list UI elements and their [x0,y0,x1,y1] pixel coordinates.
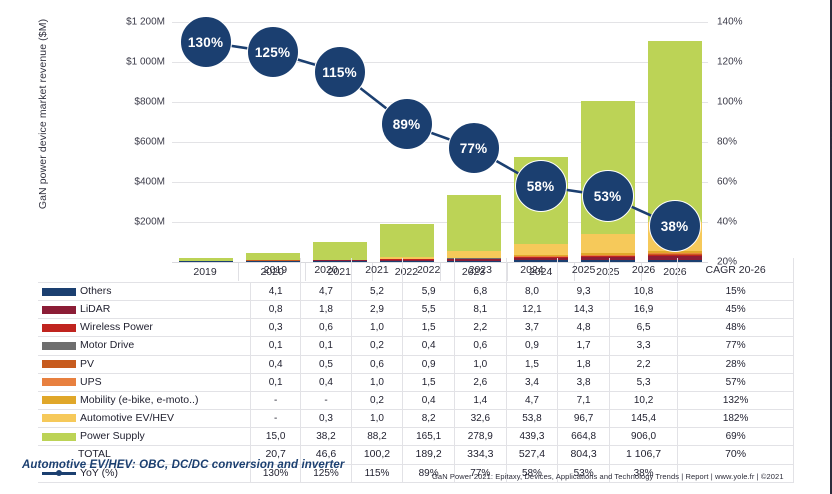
bar-segment [648,222,702,251]
table-cell: 0,8 [251,301,301,319]
bar-slot [306,22,373,262]
legend-swatch-icon [42,306,76,314]
table-cell: 1,8 [301,301,351,319]
stacked-bar[interactable] [648,41,702,262]
bar-slot [641,22,708,262]
data-table-container: 20192020202120222023202420252026CAGR 20-… [38,258,794,483]
table-cell: 0,1 [301,337,351,355]
table-cell: 1,0 [351,319,403,337]
table-cell: 32,6 [454,409,506,427]
table-cell: 7,1 [558,391,610,409]
table-cell: 8,2 [403,409,455,427]
table-cell: 0,9 [506,337,558,355]
table-column-header: 2022 [403,258,455,283]
table-cell: 664,8 [558,428,610,446]
table-cell: 0,4 [301,373,351,391]
table-cell: 0,4 [403,337,455,355]
table-cell: 0,6 [301,319,351,337]
stacked-bar[interactable] [447,195,501,262]
table-cell: 5,2 [351,283,403,301]
plot-region: $200M$400M$600M$800M$1 000M$1 200M 20%40… [172,22,708,262]
legend-swatch-icon [42,396,76,404]
legend-label: Motor Drive [80,339,134,351]
table-row-label-cell: Mobility (e-bike, e-moto..) [38,391,251,409]
table-row: PV0,40,50,60,91,01,51,82,228% [38,355,794,373]
table-column-header: 2023 [454,258,506,283]
table-cell: 4,7 [506,391,558,409]
table-row-label-cell: UPS [38,373,251,391]
legend-swatch-icon [42,360,76,368]
table-cell: 1,0 [351,409,403,427]
bar-slot [172,22,239,262]
table-cell: 1,5 [403,319,455,337]
table-cell: 1,4 [454,391,506,409]
table-cell: 1,5 [506,355,558,373]
table-cell: - [301,391,351,409]
bar-slot [574,22,641,262]
table-cell: 1,0 [351,373,403,391]
y-tick-label: $1 200M [126,17,165,28]
table-column-header: 2024 [506,258,558,283]
y-tick-label: $400M [134,177,165,188]
table-cell: 4,1 [251,283,301,301]
table-row-label-cell: Power Supply [38,428,251,446]
table-column-header: 2020 [301,258,351,283]
legend-label: Automotive EV/HEV [80,412,174,424]
table-row-label-cell: Motor Drive [38,337,251,355]
table-cell: 278,9 [454,428,506,446]
table-corner-cell [38,258,251,283]
table-cell: 2,9 [351,301,403,319]
table-cell: 439,3 [506,428,558,446]
table-cell: - [251,409,301,427]
table-cell: 906,0 [609,428,677,446]
table-cell: 145,4 [609,409,677,427]
table-row: Others4,14,75,25,96,88,09,310,815% [38,283,794,301]
table-cell: 4,7 [301,283,351,301]
bar-segment [447,195,501,251]
y-axis-left-title: GaN power device market revenue ($M) [37,0,49,229]
table-row-label-cell: Others [38,283,251,301]
chart-area: GaN power device market revenue ($M) YoY… [0,0,830,278]
y-tick-label: $600M [134,137,165,148]
table-row-label-cell: Automotive EV/HEV [38,409,251,427]
table-cell: 12,1 [506,301,558,319]
table-cell: 0,2 [351,391,403,409]
legend-swatch-icon [42,378,76,386]
legend-label: Others [80,285,112,297]
stacked-bars [172,22,708,262]
table-cell: 88,2 [351,428,403,446]
legend-label: PV [80,358,94,370]
table-cell: 0,5 [301,355,351,373]
y2-tick-label: 40% [717,217,737,228]
legend-label: Wireless Power [80,321,153,333]
table-cell: 3,3 [609,337,677,355]
table-cell: 15,0 [251,428,301,446]
bar-segment [581,234,635,253]
y2-tick-label: 80% [717,137,737,148]
table-cell: 527,4 [506,446,558,464]
table-cell: 0,6 [351,355,403,373]
table-cell: 1,5 [403,373,455,391]
y2-tick-label: 120% [717,57,743,68]
bar-slot [239,22,306,262]
legend-swatch-icon [42,324,76,332]
table-cell: 0,1 [251,373,301,391]
table-row: Automotive EV/HEV-0,31,08,232,653,896,71… [38,409,794,427]
table-column-header-cagr: CAGR 20-26 [678,258,794,283]
bar-slot [507,22,574,262]
bar-slot [440,22,507,262]
table-cell: 0,3 [301,409,351,427]
table-cell: 0,4 [403,391,455,409]
table-column-header: 2025 [558,258,610,283]
table-row-label-cell: LiDAR [38,301,251,319]
table-cell: 0,2 [351,337,403,355]
table-cell: 100,2 [351,446,403,464]
table-cell: 5,5 [403,301,455,319]
table-cell: 5,9 [403,283,455,301]
bar-segment [380,224,434,257]
table-cell: - [251,391,301,409]
footer-caption: Automotive EV/HEV: OBC, DC/DC conversion… [22,459,344,471]
legend-label: LiDAR [80,303,110,315]
table-row-label-cell: PV [38,355,251,373]
table-cell-cagr: 57% [678,373,794,391]
table-row: LiDAR0,81,82,95,58,112,114,316,945% [38,301,794,319]
table-cell-cagr: 48% [678,319,794,337]
table-cell: 9,3 [558,283,610,301]
legend-label: Power Supply [80,430,145,442]
y2-tick-label: 60% [717,177,737,188]
y-tick-label: $1 000M [126,57,165,68]
table-cell: 16,9 [609,301,677,319]
table-cell: 115% [351,464,403,482]
table-cell: 53,8 [506,409,558,427]
table-cell: 10,8 [609,283,677,301]
table-cell: 6,8 [454,283,506,301]
table-cell: 0,3 [251,319,301,337]
table-cell: 38,2 [301,428,351,446]
table-cell-cagr: 70% [678,446,794,464]
stacked-bar[interactable] [581,101,635,262]
table-cell: 6,5 [609,319,677,337]
table-cell-cagr: 182% [678,409,794,427]
y2-tick-label: 140% [717,17,743,28]
legend-swatch-icon [42,342,76,350]
table-cell: 2,6 [454,373,506,391]
bar-segment [514,157,568,245]
table-cell-cagr: 15% [678,283,794,301]
legend-swatch-icon [42,288,76,296]
bar-segment [648,41,702,222]
chart-page: GaN power device market revenue ($M) YoY… [0,0,830,494]
table-cell: 804,3 [558,446,610,464]
y-tick-label: $200M [134,217,165,228]
table-cell-cagr: 69% [678,428,794,446]
table-cell: 0,1 [251,337,301,355]
bar-segment [514,244,568,255]
table-cell-cagr: 28% [678,355,794,373]
table-row-label-cell: Wireless Power [38,319,251,337]
table-cell: 10,2 [609,391,677,409]
table-cell: 334,3 [454,446,506,464]
data-table: 20192020202120222023202420252026CAGR 20-… [38,258,794,483]
table-cell: 0,6 [454,337,506,355]
table-cell-cagr: 77% [678,337,794,355]
table-cell: 96,7 [558,409,610,427]
table-cell: 1,0 [454,355,506,373]
bar-segment [581,101,635,234]
table-row: UPS0,10,41,01,52,63,43,85,357% [38,373,794,391]
table-row: Power Supply15,038,288,2165,1278,9439,36… [38,428,794,446]
stacked-bar[interactable] [380,224,434,262]
table-header-row: 20192020202120222023202420252026CAGR 20-… [38,258,794,283]
table-cell: 1,7 [558,337,610,355]
legend-swatch-icon [42,414,76,422]
table-cell: 3,8 [558,373,610,391]
table-cell-cagr: 45% [678,301,794,319]
table-row: Mobility (e-bike, e-moto..)--0,20,41,44,… [38,391,794,409]
legend-label: UPS [80,376,102,388]
table-cell: 5,3 [609,373,677,391]
table-column-header: 2026 [609,258,677,283]
table-cell: 8,1 [454,301,506,319]
table-cell: 2,2 [609,355,677,373]
legend-label: Mobility (e-bike, e-moto..) [80,394,198,406]
y-tick-label: $800M [134,97,165,108]
table-cell: 0,9 [403,355,455,373]
legend-swatch-icon [42,433,76,441]
bar-slot [373,22,440,262]
table-cell: 14,3 [558,301,610,319]
table-cell: 165,1 [403,428,455,446]
table-cell: 8,0 [506,283,558,301]
table-row: Wireless Power0,30,61,01,52,23,74,86,548… [38,319,794,337]
table-cell: 3,7 [506,319,558,337]
table-cell: 0,4 [251,355,301,373]
table-body: Others4,14,75,25,96,88,09,310,815%LiDAR0… [38,283,794,483]
table-cell: 2,2 [454,319,506,337]
table-cell: 4,8 [558,319,610,337]
footer-source: GaN Power 2021: Epitaxy, Devices, Applic… [432,472,784,481]
table-cell: 1 106,7 [609,446,677,464]
table-row: Motor Drive0,10,10,20,40,60,91,73,377% [38,337,794,355]
table-cell: 1,8 [558,355,610,373]
y2-tick-label: 100% [717,97,743,108]
table-cell: 189,2 [403,446,455,464]
table-column-header: 2021 [351,258,403,283]
table-cell-cagr: 132% [678,391,794,409]
table-column-header: 2019 [251,258,301,283]
stacked-bar[interactable] [514,157,568,262]
bar-segment [313,242,367,260]
table-cell: 3,4 [506,373,558,391]
